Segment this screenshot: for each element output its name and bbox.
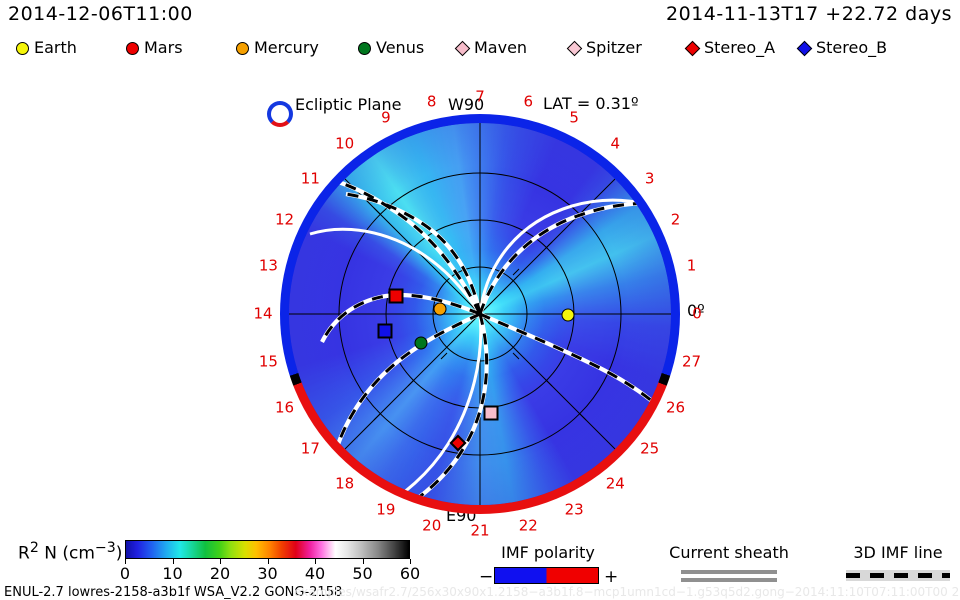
hour-label-10: 10	[335, 137, 354, 152]
polar-dial	[280, 114, 680, 514]
density-heatmap-disc	[289, 123, 671, 505]
legend-item-spitzer[interactable]: Spitzer	[568, 36, 642, 60]
polarity-plus-label: +	[604, 567, 618, 587]
legend-label-stereo_b: Stereo_B	[816, 40, 887, 56]
hour-label-3: 3	[645, 171, 655, 186]
hour-label-12: 12	[275, 212, 294, 227]
legend-label-venus: Venus	[376, 40, 424, 56]
hour-label-5: 5	[569, 111, 579, 126]
sun-disc	[273, 107, 288, 122]
hour-label-22: 22	[519, 518, 538, 533]
colorbar-tick-label-10: 10	[162, 564, 182, 583]
maven-diamond-icon	[455, 40, 471, 56]
marker-stereo-b[interactable]	[378, 324, 393, 339]
hour-label-16: 16	[275, 401, 294, 416]
colorbar-tick-label-60: 60	[400, 564, 420, 583]
hour-label-25: 25	[640, 442, 659, 457]
polarity-color-bar	[494, 567, 599, 584]
colorbar-tick-label-50: 50	[352, 564, 372, 583]
hour-label-19: 19	[376, 502, 395, 517]
hour-label-17: 17	[301, 442, 320, 457]
run-identifier: ENUL-2.7 lowres-2158-a3b1f WSA_V2.2 GONG…	[4, 585, 342, 600]
polarity-minus-label: −	[479, 567, 493, 587]
legend-item-maven[interactable]: Maven	[456, 36, 527, 60]
colorbar-tick-label-20: 20	[210, 564, 230, 583]
mercury-circle-icon	[236, 42, 249, 55]
hour-label-23: 23	[565, 502, 584, 517]
hour-label-18: 18	[335, 476, 354, 491]
legend-label-stereo_a: Stereo_A	[704, 40, 775, 56]
legend-item-mercury[interactable]: Mercury	[236, 36, 319, 60]
hour-label-14: 14	[253, 307, 272, 322]
earth-circle-icon	[16, 42, 29, 55]
spitzer-diamond-icon	[567, 40, 583, 56]
colorbar-tick-label-0: 0	[120, 564, 130, 583]
run-epoch-label: 2014-11-13T17 +22.72 days	[666, 3, 952, 25]
marker-venus[interactable]	[415, 337, 428, 350]
legend-item-mars[interactable]: Mars	[126, 36, 183, 60]
hour-label-7: 7	[475, 90, 485, 105]
hour-label-26: 26	[666, 401, 685, 416]
hour-label-27: 27	[682, 355, 701, 370]
density-outer-vignette	[289, 123, 671, 505]
imf-polarity-title: IMF polarity	[501, 543, 595, 562]
legend-item-stereo_a[interactable]: Stereo_A	[686, 36, 775, 60]
legend-label-spitzer: Spitzer	[586, 40, 642, 56]
marker-earth[interactable]	[562, 309, 575, 322]
imf-line-3d-swatch-dash	[846, 573, 950, 578]
imf-line-3d-title: 3D IMF line	[853, 543, 942, 562]
hour-label-9: 9	[381, 111, 391, 126]
legend-item-earth[interactable]: Earth	[16, 36, 77, 60]
body-legend: EarthMarsMercuryVenusMavenSpitzerStereo_…	[8, 36, 952, 60]
legend-item-stereo_b[interactable]: Stereo_B	[798, 36, 887, 60]
sun-marker	[267, 101, 293, 127]
stereo_b-diamond-icon	[797, 40, 813, 56]
mars-circle-icon	[126, 42, 139, 55]
current-sheath-swatch-bottom	[681, 578, 777, 582]
hour-label-6: 6	[524, 95, 534, 110]
current-sheath-title: Current sheath	[669, 543, 789, 562]
colorbar-tick-label-40: 40	[305, 564, 325, 583]
hour-label-21: 21	[470, 524, 489, 539]
source-path-watermark: examples/wsafr2.7/256x30x90x1.2158−a3b1f…	[294, 585, 960, 599]
plot-title-right: LAT = 0.31º	[543, 94, 639, 113]
hour-label-15: 15	[259, 355, 278, 370]
hour-label-1: 1	[687, 258, 697, 273]
ecliptic-plane-plot: Ecliptic Plane LAT = 0.31º W90 E90 0º	[243, 96, 717, 526]
colorbar-gradient	[125, 540, 410, 559]
current-sheath-swatch-top	[681, 570, 777, 574]
legend-label-earth: Earth	[34, 40, 77, 56]
venus-circle-icon	[358, 42, 371, 55]
hour-label-2: 2	[671, 212, 681, 227]
legend-item-venus[interactable]: Venus	[358, 36, 424, 60]
hour-label-13: 13	[259, 258, 278, 273]
marker-spitzer[interactable]	[484, 406, 499, 421]
hour-label-4: 4	[611, 137, 621, 152]
hour-label-20: 20	[422, 518, 441, 533]
colorbar-label: R2 N (cm−3)	[18, 540, 122, 564]
marker-stereo-a[interactable]	[389, 289, 404, 304]
hour-label-0: 0	[692, 307, 702, 322]
hour-label-8: 8	[427, 95, 437, 110]
hour-label-24: 24	[606, 476, 625, 491]
legend-label-maven: Maven	[474, 40, 527, 56]
legend-label-mercury: Mercury	[254, 40, 319, 56]
colorbar-tick-label-30: 30	[257, 564, 277, 583]
hour-label-11: 11	[301, 171, 320, 186]
stereo_a-diamond-icon	[685, 40, 701, 56]
legend-label-mars: Mars	[144, 40, 183, 56]
marker-mercury[interactable]	[434, 303, 447, 316]
current-timestamp: 2014-12-06T11:00	[8, 3, 193, 25]
